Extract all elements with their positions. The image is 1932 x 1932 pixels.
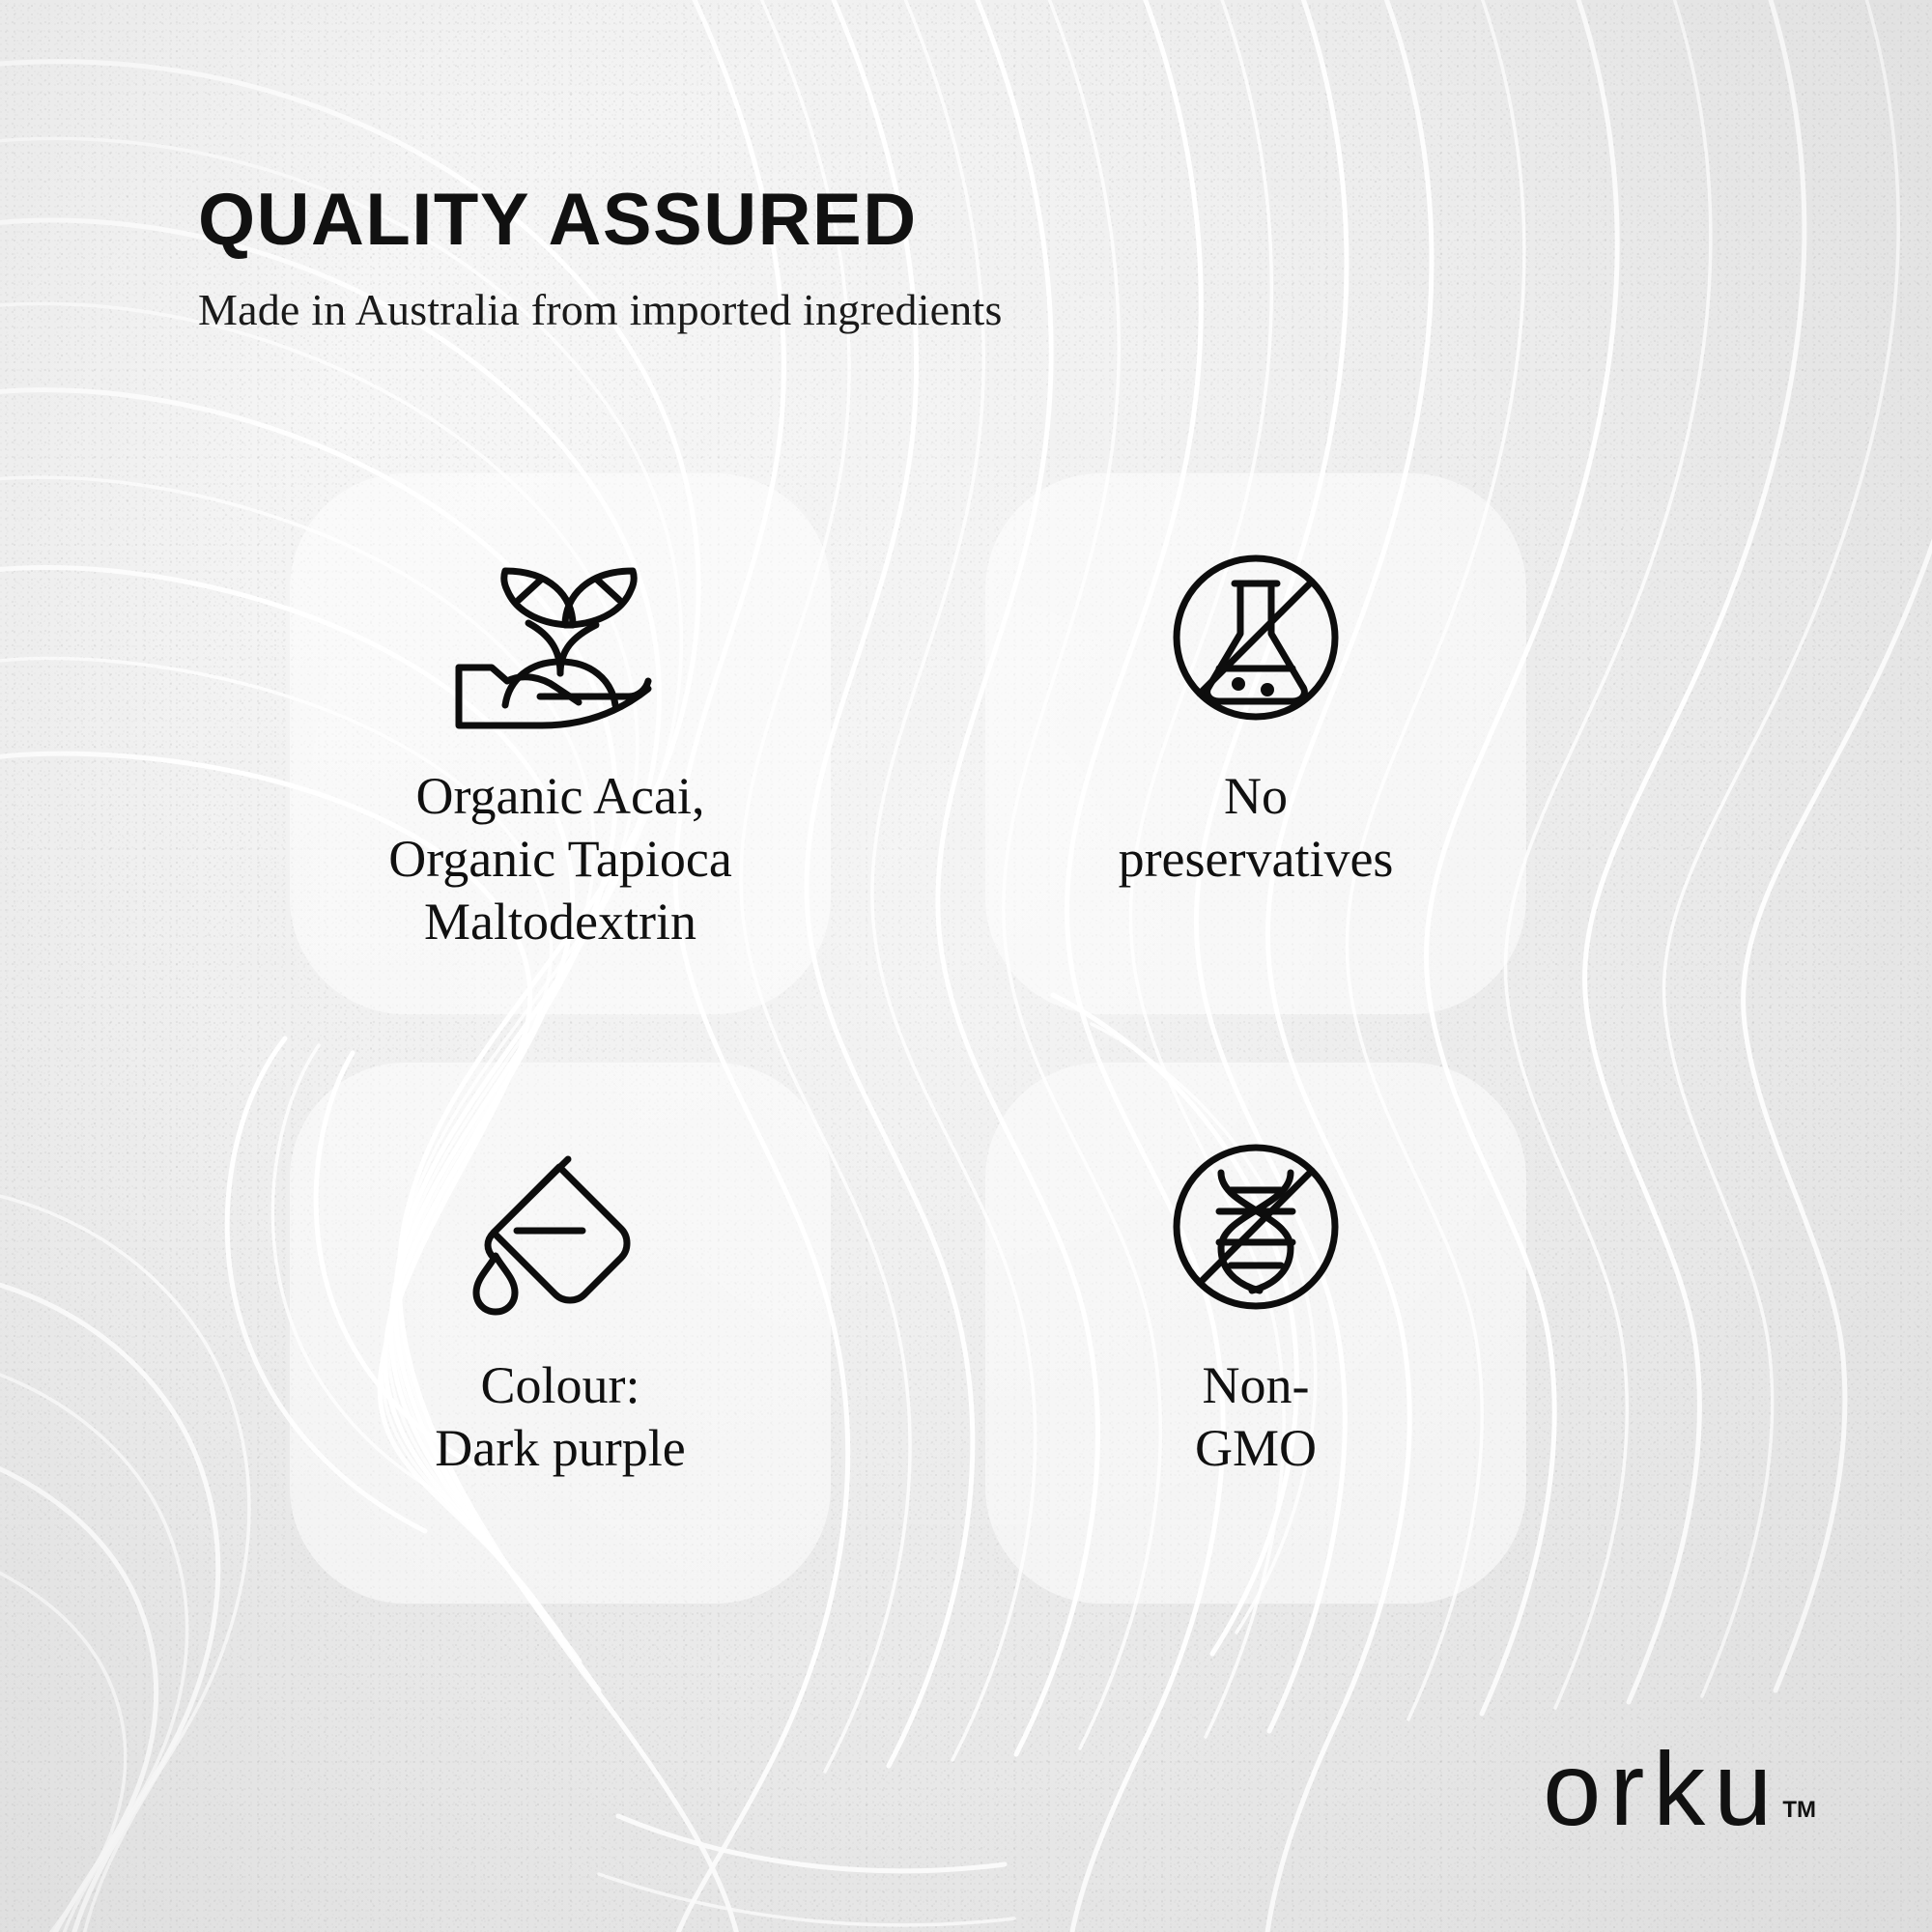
feature-card-no-preservatives: No preservatives	[985, 473, 1526, 1014]
no-preservatives-flask-icon	[1140, 531, 1372, 744]
page-subtitle: Made in Australia from imported ingredie…	[198, 288, 1550, 332]
quality-assured-poster: QUALITY ASSURED Made in Australia from i…	[0, 0, 1932, 1932]
page-title: QUALITY ASSURED	[198, 184, 1550, 257]
feature-card-label: No preservatives	[1103, 765, 1409, 891]
feature-card-non-gmo: Non- GMO	[985, 1063, 1526, 1604]
no-gmo-dna-icon	[1140, 1121, 1372, 1333]
feature-card-label: Non- GMO	[1179, 1354, 1332, 1480]
header: QUALITY ASSURED Made in Australia from i…	[198, 184, 1550, 332]
feature-card-grid: Organic Acai, Organic Tapioca Maltodextr…	[290, 473, 1662, 1604]
brand-name: orku	[1543, 1742, 1780, 1835]
paint-bucket-icon	[444, 1121, 676, 1333]
sprout-in-hand-icon	[444, 531, 676, 744]
feature-card-label: Colour: Dark purple	[419, 1354, 700, 1480]
feature-card-organic-ingredients: Organic Acai, Organic Tapioca Maltodextr…	[290, 473, 831, 1014]
trademark-symbol: TM	[1782, 1797, 1816, 1824]
feature-card-colour: Colour: Dark purple	[290, 1063, 831, 1604]
brand-logo: orku TM	[1543, 1742, 1816, 1835]
feature-card-label: Organic Acai, Organic Tapioca Maltodextr…	[373, 765, 748, 952]
